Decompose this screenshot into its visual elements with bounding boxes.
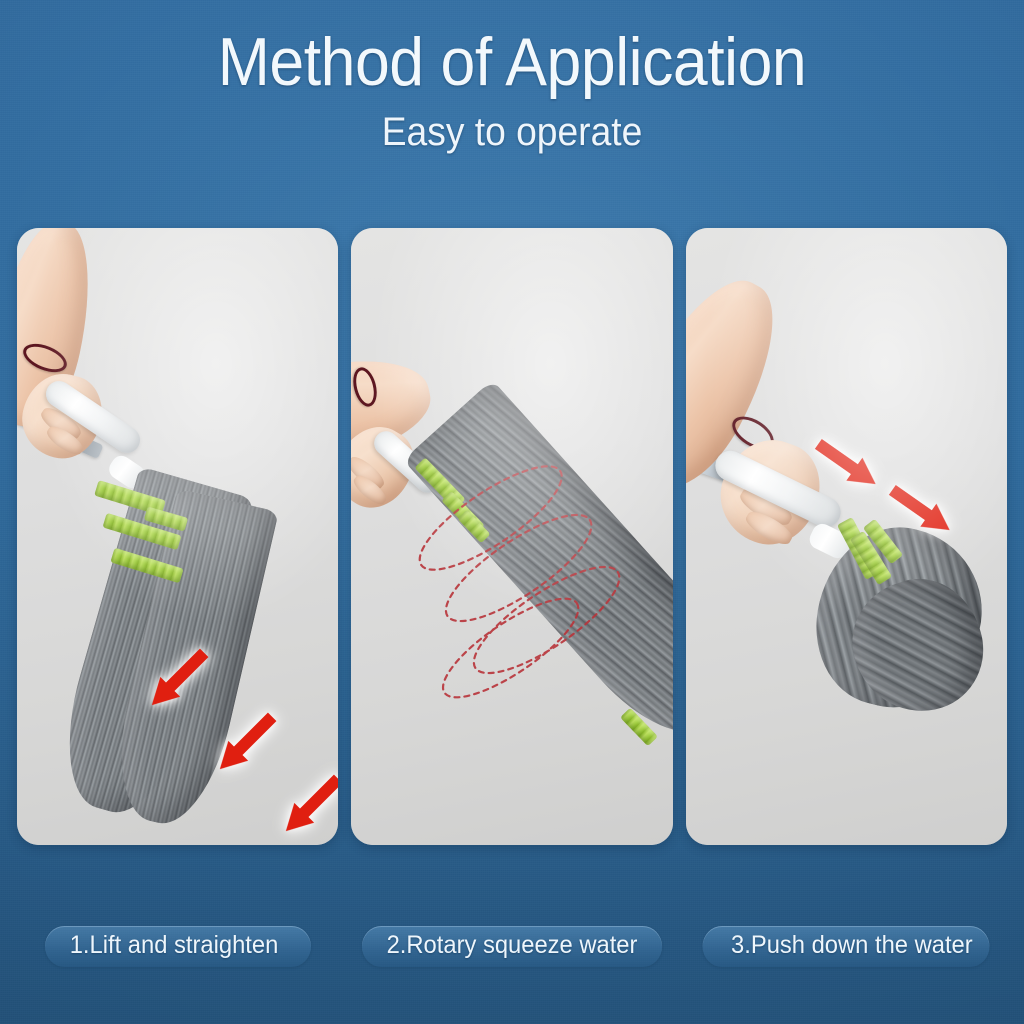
step-panel-2[interactable]	[351, 228, 672, 845]
step-caption-3: 3.Push down the water	[703, 926, 990, 967]
caption-cell-3: 3.Push down the water	[686, 916, 1007, 976]
step-panel-row	[17, 228, 1007, 845]
caption-cell-1: 1.Lift and straighten	[17, 916, 338, 976]
step-photo-3	[686, 228, 1007, 845]
infographic-root: Method of Application Easy to operate	[0, 0, 1024, 1024]
step-photo-1	[17, 228, 338, 845]
page-title: Method of Application	[41, 28, 983, 96]
step-caption-row: 1.Lift and straighten 2.Rotary squeeze w…	[17, 916, 1007, 976]
page-subtitle: Easy to operate	[36, 112, 988, 152]
step-panel-1[interactable]	[17, 228, 338, 845]
step-caption-1: 1.Lift and straighten	[45, 926, 311, 967]
step-caption-2: 2.Rotary squeeze water	[362, 926, 662, 967]
step-photo-2	[351, 228, 672, 845]
step-panel-3[interactable]	[686, 228, 1007, 845]
rotation-spiral-indicator	[351, 228, 672, 845]
motion-arrow-1c	[275, 768, 338, 842]
caption-cell-2: 2.Rotary squeeze water	[351, 916, 672, 976]
header: Method of Application Easy to operate	[0, 28, 1024, 152]
motion-arrow-3a	[810, 432, 883, 495]
